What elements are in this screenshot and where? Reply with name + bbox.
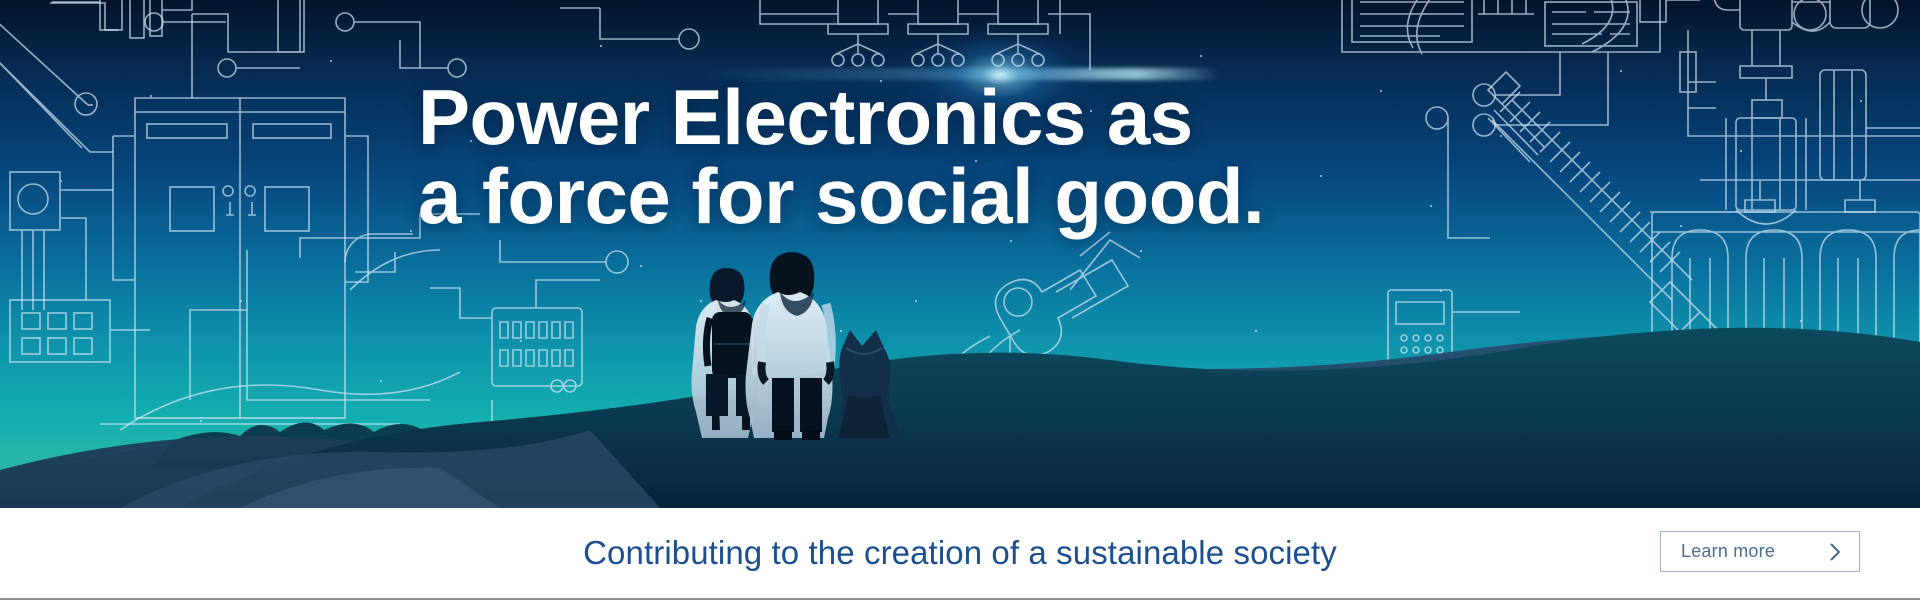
page-title: Power Electronics as a force for social … — [418, 78, 1418, 236]
horizon-group — [0, 328, 1920, 508]
person-right-silhouette — [746, 252, 833, 440]
bottom-bar: Contributing to the creation of a sustai… — [0, 508, 1920, 600]
learn-more-button[interactable]: Learn more — [1660, 531, 1860, 572]
chevron-right-icon — [1829, 542, 1842, 562]
promo-banner: Power Electronics as a force for social … — [0, 0, 1920, 600]
tagline-text: Contributing to the creation of a sustai… — [583, 534, 1337, 572]
learn-more-label: Learn more — [1681, 541, 1775, 562]
dog-silhouette — [838, 330, 898, 440]
hero-illustration: Power Electronics as a force for social … — [0, 0, 1920, 508]
